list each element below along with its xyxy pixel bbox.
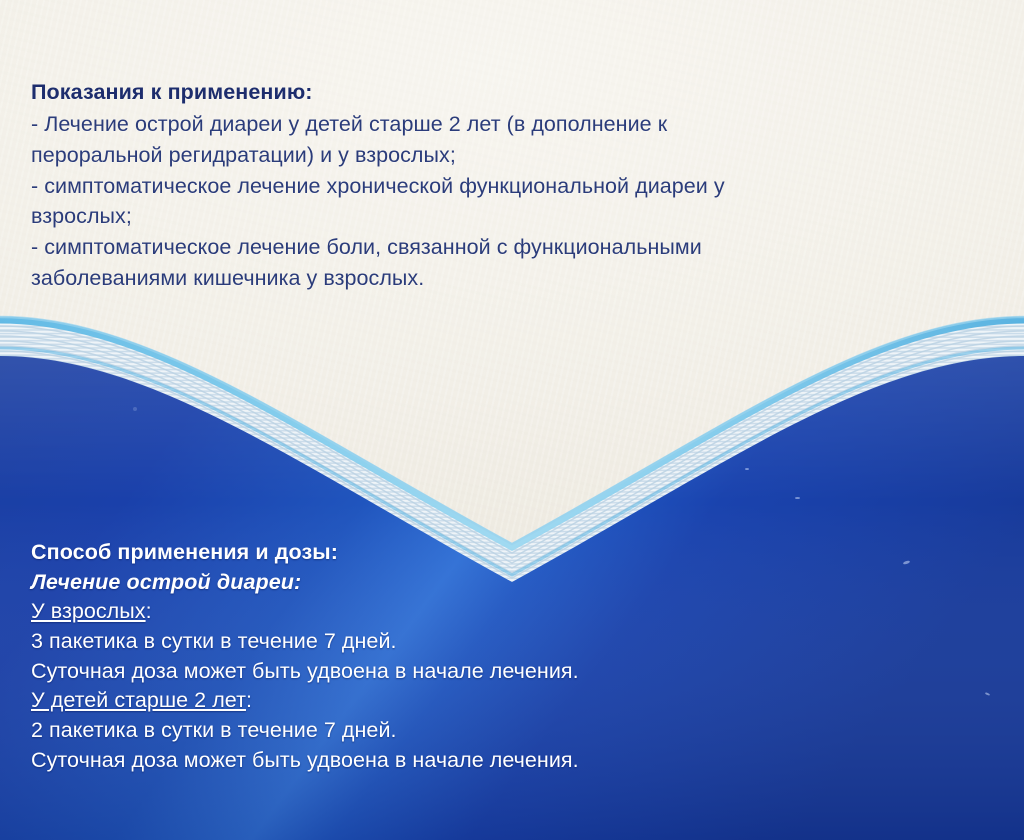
dosage-subheading: Лечение острой диареи: — [31, 568, 821, 598]
indications-line: - симптоматическое лечение боли, связанн… — [31, 232, 961, 263]
dosage-line: Суточная доза может быть удвоена в начал… — [31, 746, 821, 776]
indications-line: пероральной регидратации) и у взрослых; — [31, 140, 961, 171]
indications-heading: Показания к применению: — [31, 78, 961, 107]
dosage-group-label-children-colon: : — [246, 688, 252, 712]
dosage-heading: Способ применения и дозы: — [31, 538, 821, 568]
dosage-group-label-children: У детей старше 2 лет: — [31, 686, 252, 716]
indications-block: Показания к применению: - Лечение острой… — [31, 78, 961, 294]
package-panel: Показания к применению: - Лечение острой… — [0, 0, 1024, 840]
indications-line: заболеваниями кишечника у взрослых. — [31, 263, 961, 294]
dosage-group-label-adults-text: У взрослых — [31, 599, 146, 623]
dosage-line: 2 пакетика в сутки в течение 7 дней. — [31, 716, 821, 746]
dosage-block: Способ применения и дозы: Лечение острой… — [31, 538, 821, 775]
dosage-group-label-children-text: У детей старше 2 лет — [31, 688, 246, 712]
dosage-group-label-adults: У взрослых: — [31, 597, 152, 627]
dosage-line: Суточная доза может быть удвоена в начал… — [31, 657, 821, 687]
dosage-group-label-adults-colon: : — [146, 599, 152, 623]
dosage-line: 3 пакетика в сутки в течение 7 дней. — [31, 627, 821, 657]
indications-line: - Лечение острой диареи у детей старше 2… — [31, 109, 961, 140]
indications-line: взрослых; — [31, 201, 961, 232]
indications-line: - симптоматическое лечение хронической ф… — [31, 171, 961, 202]
